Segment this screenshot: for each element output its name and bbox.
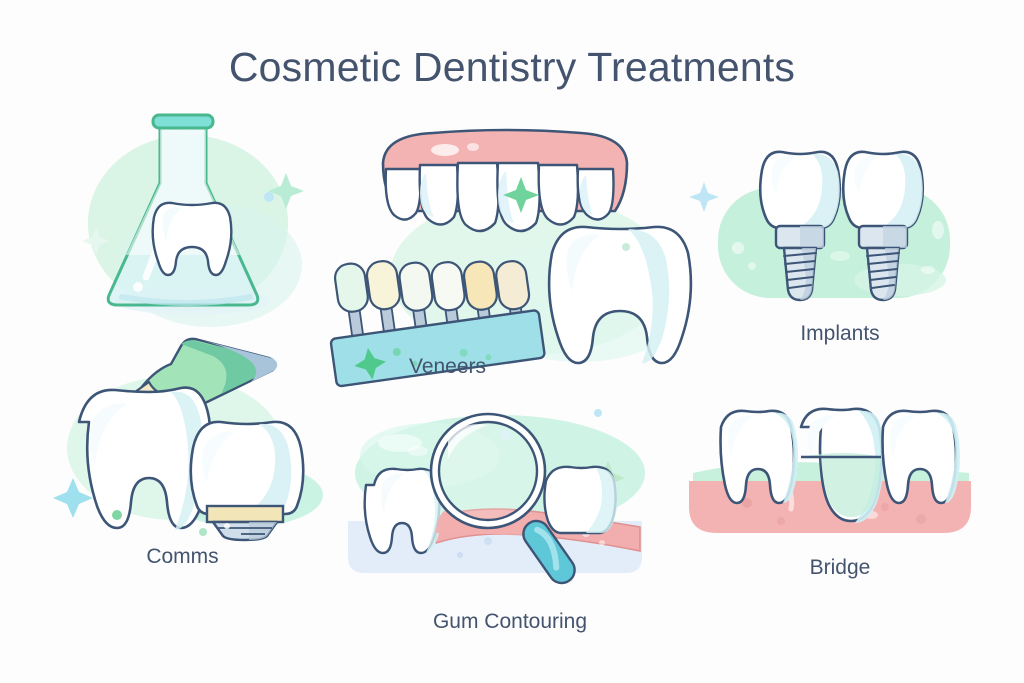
upper-dental-arch (383, 130, 627, 231)
veneers-illustration (330, 125, 700, 365)
flask-neck-rim (153, 115, 213, 128)
caption-crowns: Comms (75, 545, 290, 569)
shade-tab (333, 262, 369, 314)
implants-illustration (700, 130, 970, 315)
gum-contouring-illustration (340, 405, 650, 590)
caption-implants: Implants (750, 322, 930, 346)
caption-gum-contouring: Gum Contouring (390, 610, 630, 634)
crown-margin-band (207, 506, 283, 522)
bridge-illustration (685, 395, 975, 550)
page-title: Cosmetic Dentistry Treatments (0, 44, 1024, 91)
threaded-screw-post (784, 248, 816, 300)
caption-veneers: Veneers (340, 355, 555, 379)
whitening-flask-illustration (60, 105, 320, 335)
crown-on-post (191, 422, 304, 540)
caption-bridge: Bridge (760, 556, 920, 580)
crowns-illustration (55, 330, 325, 545)
infographic-canvas: Cosmetic Dentistry Treatments (0, 0, 1024, 683)
threaded-screw-post (867, 248, 899, 300)
